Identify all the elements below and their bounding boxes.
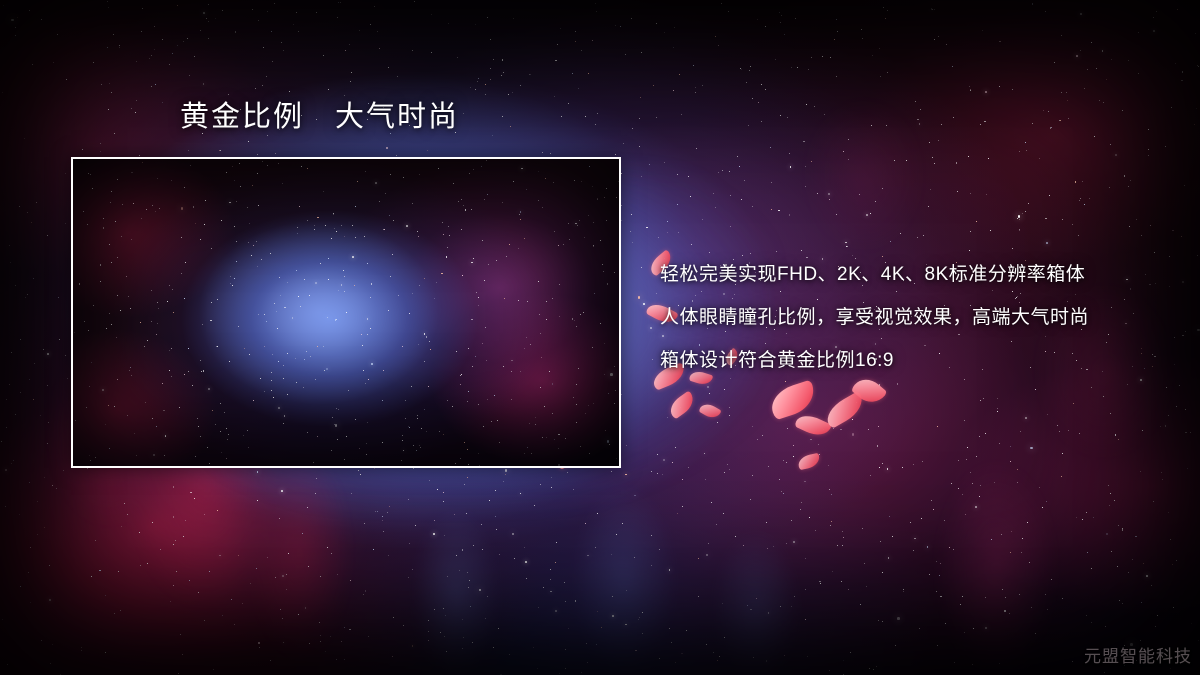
framed-vignette <box>73 159 619 466</box>
body-copy: 轻松完美实现FHD、2K、4K、8K标准分辨率箱体 人体眼睛瞳孔比例，享受视觉效… <box>660 253 1160 382</box>
body-line-3: 箱体设计符合黄金比例16:9 <box>660 339 1160 382</box>
watermark: 元盟智能科技 <box>1084 642 1192 667</box>
flower-petal <box>767 380 819 421</box>
flower-petal <box>797 453 821 470</box>
body-line-2: 人体眼睛瞳孔比例，享受视觉效果，高端大气时尚 <box>660 296 1160 339</box>
flower-petal <box>698 401 721 421</box>
picture-frame-inner <box>73 159 619 466</box>
picture-frame[interactable] <box>71 157 621 468</box>
slide-canvas: 黄金比例 大气时尚 轻松完美实现FHD、2K、4K、8K标准分辨率箱体 人体眼睛… <box>0 0 1200 675</box>
page-title: 黄金比例 大气时尚 <box>180 101 459 134</box>
flower-petal <box>666 390 698 419</box>
body-line-1: 轻松完美实现FHD、2K、4K、8K标准分辨率箱体 <box>660 253 1160 296</box>
flower-petal <box>794 411 832 441</box>
